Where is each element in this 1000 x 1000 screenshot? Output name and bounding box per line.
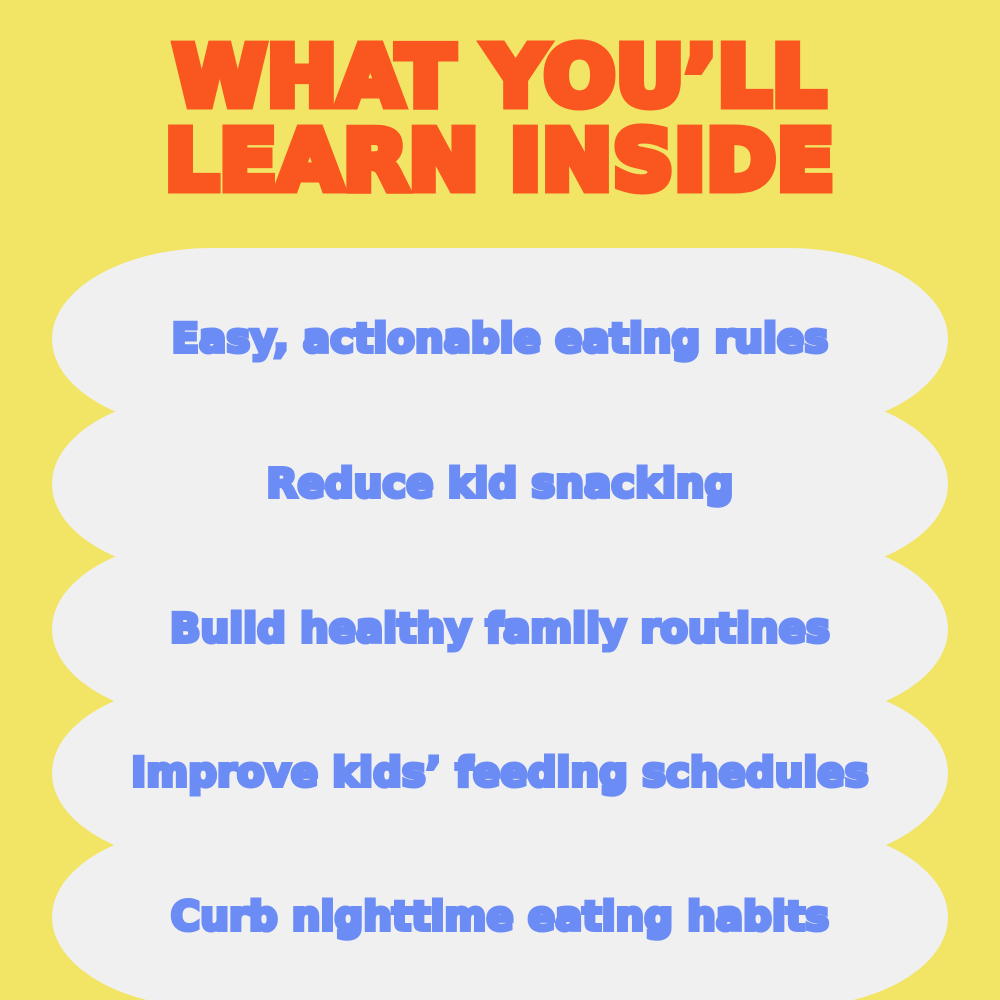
page-title-line-2: LEARN INSIDE <box>0 122 1000 202</box>
learn-card-stack: Easy, actionable eating rules Reduce kid… <box>0 248 1000 950</box>
page-title: WHAT YOU’LL LEARN INSIDE <box>0 38 1000 203</box>
learn-card-label: Build healthy family routines <box>170 609 830 649</box>
page-title-line-1: WHAT YOU’LL <box>0 38 1000 118</box>
learn-card-label: Improve kids’ feeding schedules <box>131 753 869 793</box>
learn-card-label: Easy, actionable eating rules <box>172 319 829 359</box>
learn-card-label: Curb nighttime eating habits <box>171 897 829 937</box>
poster-canvas: WHAT YOU’LL LEARN INSIDE Easy, actionabl… <box>0 0 1000 1000</box>
learn-card[interactable]: Curb nighttime eating habits <box>52 826 948 1000</box>
learn-card-label: Reduce kid snacking <box>267 464 734 504</box>
